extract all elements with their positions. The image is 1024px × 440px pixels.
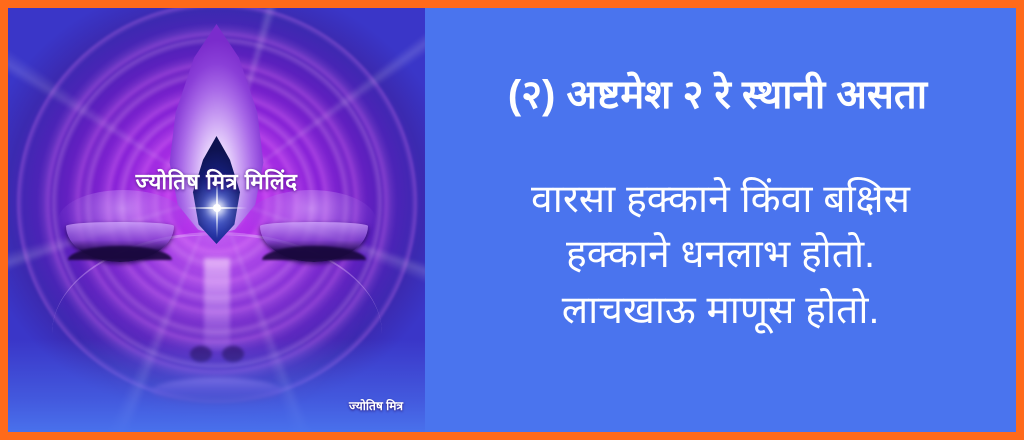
body-text-line: वारसा हक्काने किंवा बक्षिस: [531, 172, 910, 227]
text-content-area: (२) अष्टमेश २ रे स्थानी असता वारसा हक्का…: [425, 8, 1016, 432]
third-eye-meditation-illustration: ज्योतिष मित्र मिलिंद ज्योतिष मित्र: [8, 8, 425, 432]
body-text-line: हक्काने धनलाभ होतो.: [531, 227, 910, 282]
lips: [152, 378, 282, 404]
watermark-main: ज्योतिष मित्र मिलिंद: [136, 166, 298, 196]
illustration-background: [8, 8, 425, 432]
body-text-block: वारसा हक्काने किंवा बक्षिस हक्काने धनलाभ…: [531, 172, 910, 338]
nose: [204, 258, 230, 350]
nostril-left: [190, 346, 212, 362]
star-sparkle-icon: [213, 204, 221, 212]
nostril-right: [222, 346, 244, 362]
body-text-line: लाचखाऊ माणूस होतो.: [531, 283, 910, 338]
watermark-small: ज्योतिष मित्र: [349, 397, 403, 414]
slide-container: ज्योतिष मित्र मिलिंद ज्योतिष मित्र (२) अ…: [0, 0, 1024, 440]
page-title: (२) अष्टमेश २ रे स्थानी असता: [425, 70, 1016, 120]
